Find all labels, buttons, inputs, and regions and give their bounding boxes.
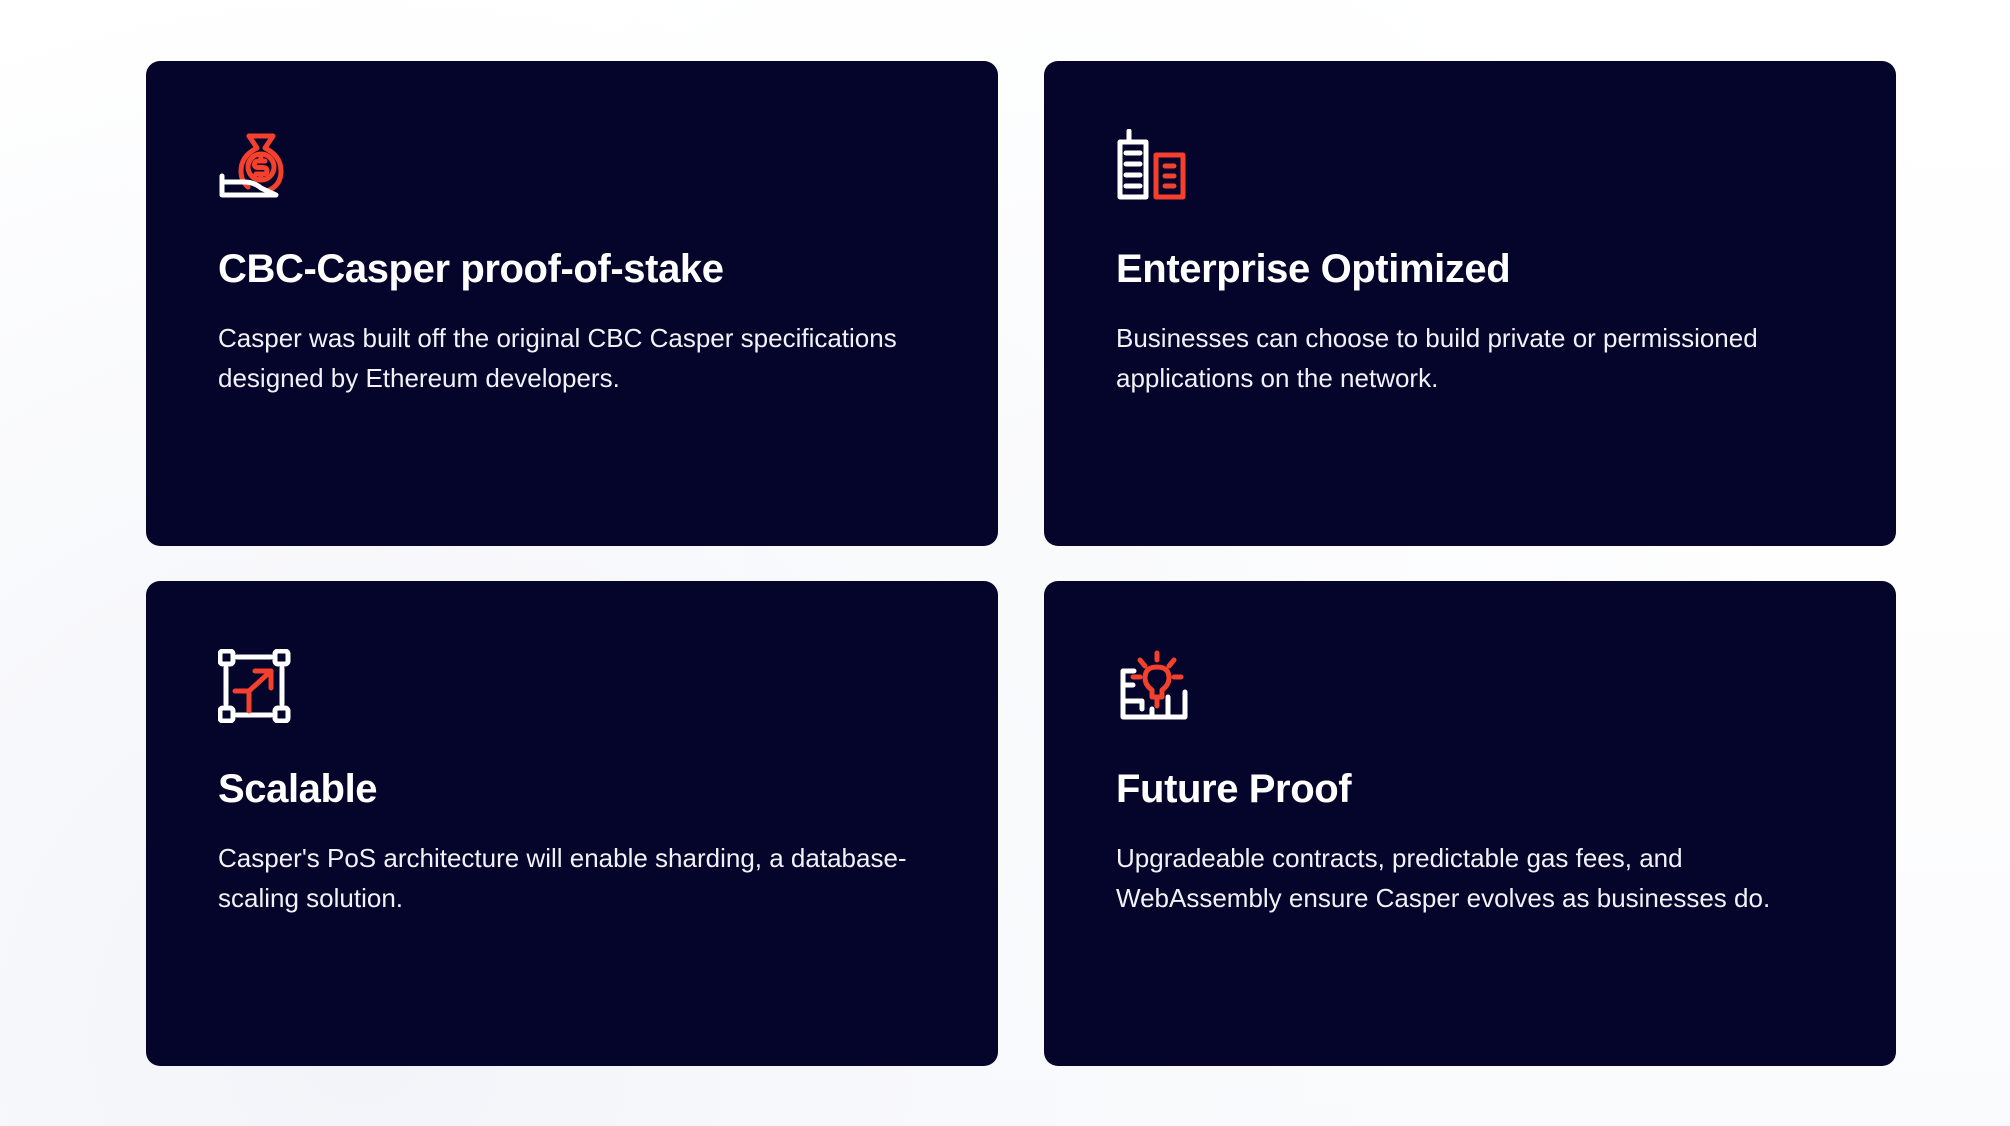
- card-title: Future Proof: [1116, 767, 1824, 812]
- card-description: Casper's PoS architecture will enable sh…: [218, 838, 918, 919]
- feature-card-enterprise-optimized[interactable]: Enterprise Optimized Businesses can choo…: [1044, 61, 1896, 546]
- card-description: Casper was built off the original CBC Ca…: [218, 318, 918, 399]
- feature-card-cbc-casper[interactable]: CBC-Casper proof-of-stake Casper was bui…: [146, 61, 998, 546]
- office-buildings-icon: [1116, 129, 1192, 203]
- feature-card-scalable[interactable]: Scalable Casper's PoS architecture will …: [146, 581, 998, 1066]
- money-bag-in-hand-icon: [218, 129, 294, 203]
- scale-arrow-icon: [218, 649, 294, 723]
- card-title: Scalable: [218, 767, 926, 812]
- lightbulb-circuit-icon: [1116, 649, 1192, 723]
- feature-card-grid: CBC-Casper proof-of-stake Casper was bui…: [146, 61, 1896, 1066]
- card-description: Businesses can choose to build private o…: [1116, 318, 1816, 399]
- card-description: Upgradeable contracts, predictable gas f…: [1116, 838, 1816, 919]
- card-title: CBC-Casper proof-of-stake: [218, 247, 926, 292]
- feature-card-future-proof[interactable]: Future Proof Upgradeable contracts, pred…: [1044, 581, 1896, 1066]
- card-title: Enterprise Optimized: [1116, 247, 1824, 292]
